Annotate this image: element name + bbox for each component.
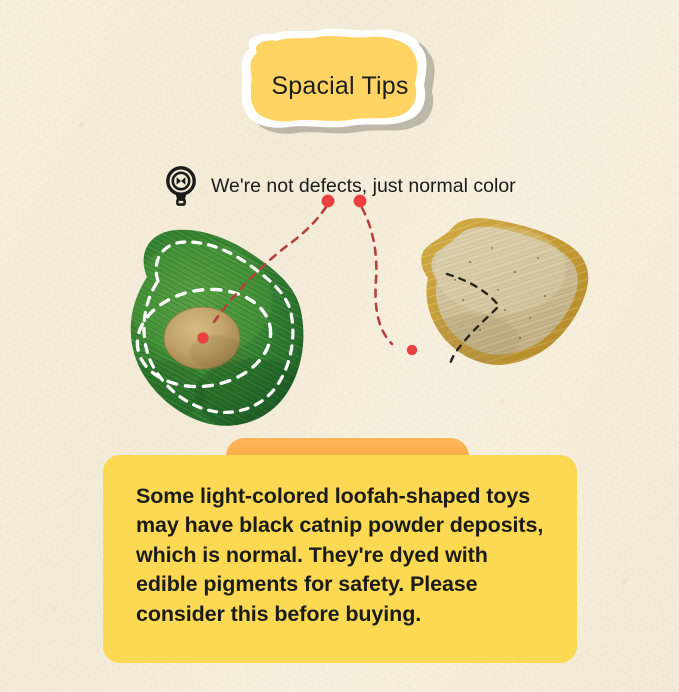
avocado-pit-dot [197, 332, 208, 343]
avocado-pit-highlight-ring [130, 280, 277, 396]
toast-crust [421, 218, 588, 365]
avocado-body [131, 230, 304, 426]
toast-illustration [415, 210, 605, 375]
lightbulb-icon [160, 164, 202, 208]
notice-panel: Some light-colored loofah-shaped toys ma… [103, 455, 577, 663]
note-text: We're not defects, just normal color [211, 175, 516, 198]
avocado-dashed-outline [144, 242, 293, 413]
avocado-illustration [114, 220, 320, 435]
notice-panel-text: Some light-colored loofah-shaped toys ma… [136, 482, 551, 629]
toast-dashed-mark [447, 274, 499, 364]
banner-title: Spacial Tips [232, 22, 448, 146]
infographic-canvas: Spacial Tips We're not defects, just nor… [0, 0, 679, 692]
banner-spacial-tips: Spacial Tips [232, 22, 448, 146]
note-row: We're not defects, just normal color [160, 164, 516, 208]
leader-line-avocado [212, 207, 326, 325]
toast-dot [407, 345, 417, 355]
toast-body [431, 227, 577, 355]
leader-line-toast [362, 208, 392, 344]
avocado-pit [164, 307, 240, 369]
